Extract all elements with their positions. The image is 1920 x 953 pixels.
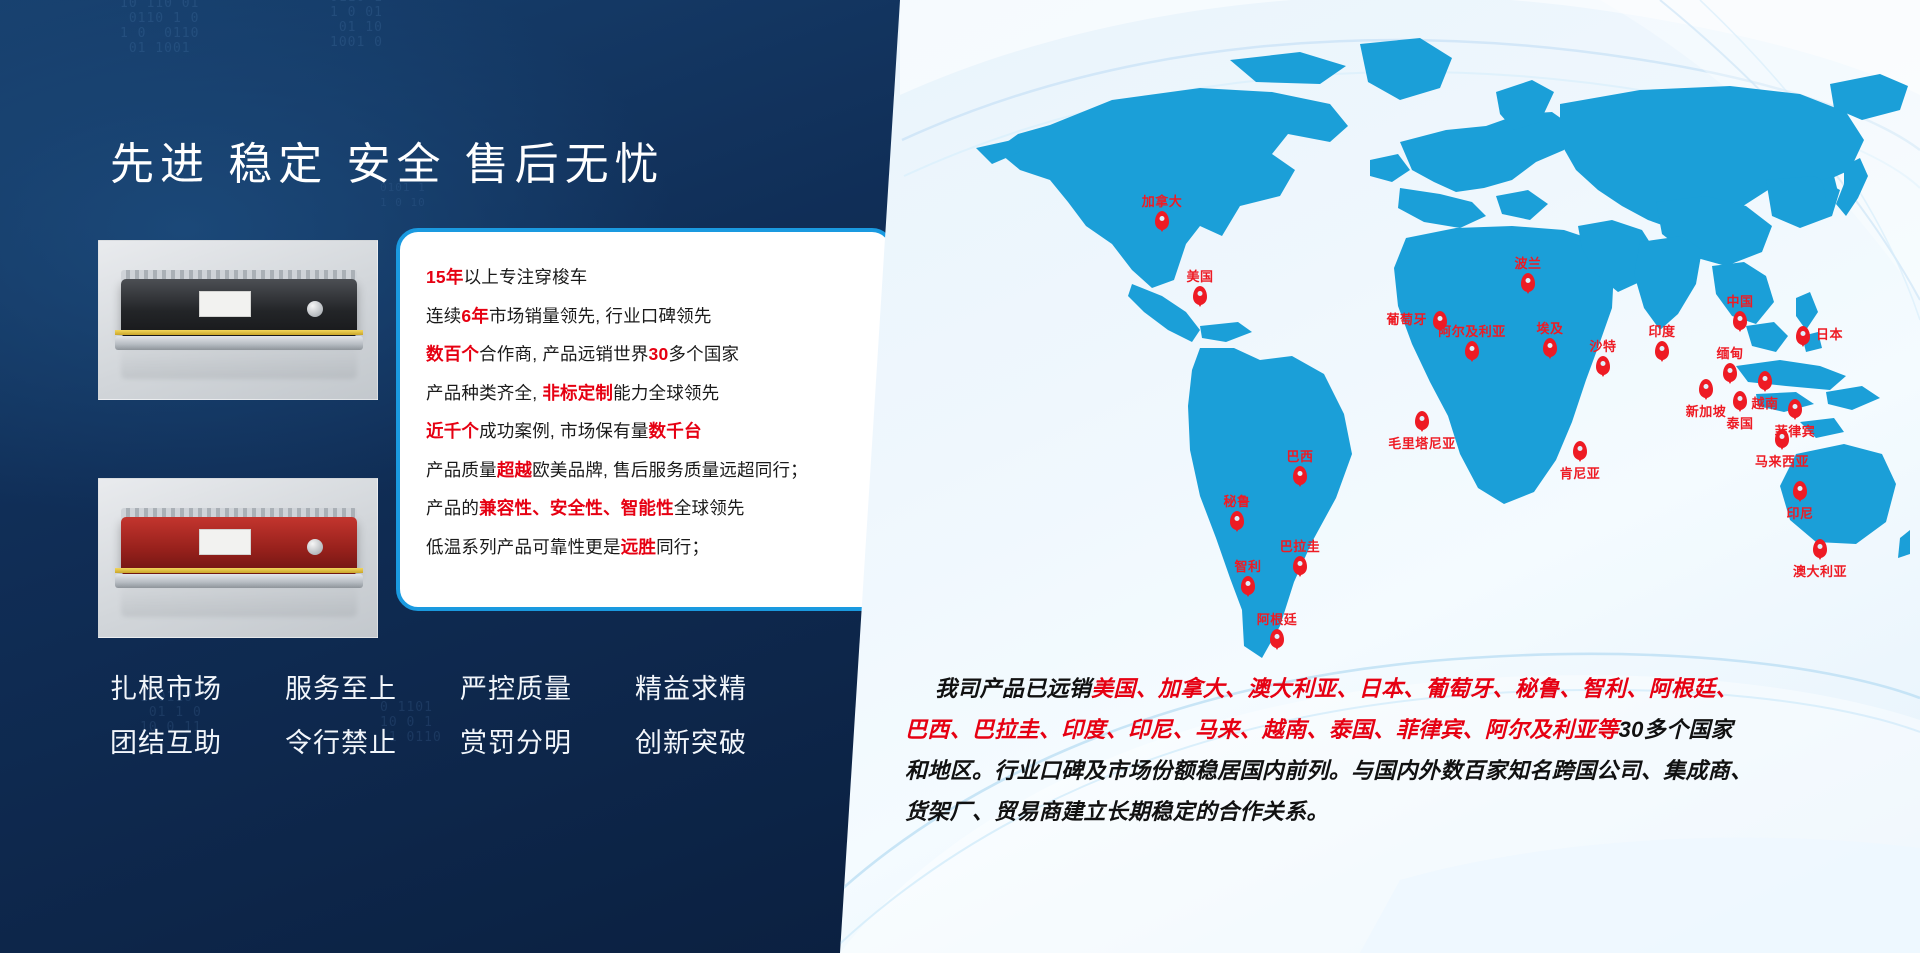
- value-item: 团结互助: [110, 716, 285, 770]
- body-text: 市场销量领先, 行业口碑领先: [489, 306, 712, 326]
- value-item: 扎根市场: [110, 662, 285, 716]
- location-pin-icon: [1521, 273, 1535, 292]
- values-row: 扎根市场服务至上严控质量精益求精: [110, 662, 810, 716]
- highlight-text: 6年: [461, 306, 489, 326]
- body-text: 以上专注穿梭车: [464, 267, 588, 287]
- location-pin-icon: [1655, 341, 1669, 360]
- map-pin[interactable]: 泰国: [1733, 391, 1747, 410]
- map-pin-label: 阿根廷: [1257, 609, 1298, 628]
- location-pin-icon: [1230, 511, 1244, 530]
- highlight-line: 连续6年市场销量领先, 行业口碑领先: [426, 297, 868, 336]
- description-text: 我司产品已远销: [935, 676, 1091, 701]
- highlight-text: 近千个: [426, 421, 479, 441]
- map-pin[interactable]: 印度: [1655, 341, 1669, 360]
- location-pin-icon: [1415, 411, 1429, 430]
- body-text: 连续: [426, 306, 461, 326]
- highlight-text: 数千台: [649, 421, 702, 441]
- highlight-text: 非标定制: [542, 383, 613, 403]
- map-pin-label: 阿尔及利亚: [1438, 321, 1506, 340]
- body-text: 合作商, 产品远销世界: [479, 344, 648, 364]
- map-pin[interactable]: 印尼: [1793, 481, 1807, 500]
- map-pin[interactable]: 越南: [1758, 371, 1772, 390]
- map-pin-label: 新加坡: [1686, 401, 1727, 420]
- description-line: 货架厂、贸易商建立长期稳定的合作关系。: [905, 791, 1865, 832]
- map-pin-label: 巴拉圭: [1280, 536, 1321, 555]
- company-highlights-card: 15年以上专注穿梭车连续6年市场销量领先, 行业口碑领先数百个合作商, 产品远销…: [396, 228, 894, 611]
- values-row: 团结互助令行禁止赏罚分明创新突破: [110, 716, 810, 770]
- map-pin[interactable]: 埃及: [1543, 338, 1557, 357]
- map-pin-label: 秘鲁: [1223, 491, 1250, 510]
- location-pin-icon: [1573, 441, 1587, 460]
- location-pin-icon: [1813, 539, 1827, 558]
- map-pin[interactable]: 沙特: [1596, 356, 1610, 375]
- map-pin[interactable]: 新加坡: [1699, 379, 1713, 398]
- body-text: 低温系列产品可靠性更是: [426, 537, 621, 557]
- market-description-paragraph: 我司产品已远销美国、加拿大、澳大利亚、日本、葡萄牙、秘鲁、智利、阿根廷、巴西、巴…: [905, 668, 1865, 832]
- map-pin[interactable]: 波兰: [1521, 273, 1535, 292]
- map-pin[interactable]: 加拿大: [1155, 211, 1169, 230]
- map-pin[interactable]: 日本: [1796, 326, 1810, 345]
- map-pin[interactable]: 巴拉圭: [1293, 556, 1307, 575]
- map-pin-label: 越南: [1751, 393, 1778, 412]
- value-item: 令行禁止: [285, 716, 460, 770]
- map-pin[interactable]: 肯尼亚: [1573, 441, 1587, 460]
- highlight-line: 产品种类齐全, 非标定制能力全球领先: [426, 374, 868, 413]
- map-pin-label: 肯尼亚: [1560, 463, 1601, 482]
- map-pin-label: 智利: [1234, 556, 1261, 575]
- left-dark-panel: 10 110 01 0110 1 0 1 0 0110 01 1001 0110…: [0, 0, 900, 953]
- location-pin-icon: [1465, 341, 1479, 360]
- description-text: 货架厂、贸易商建立长期稳定的合作关系。: [905, 799, 1329, 824]
- highlight-line: 产品质量超越欧美品牌, 售后服务质量远超同行；: [426, 451, 868, 490]
- map-pin-label: 沙特: [1589, 336, 1616, 355]
- highlight-text: 超越: [497, 460, 532, 480]
- map-pin-label: 马来西亚: [1755, 451, 1809, 470]
- map-pin[interactable]: 秘鲁: [1230, 511, 1244, 530]
- body-text: 产品质量: [426, 460, 497, 480]
- map-pin-label: 中国: [1726, 291, 1753, 310]
- highlight-line: 产品的兼容性、安全性、智能性全球领先: [426, 489, 868, 528]
- location-pin-icon: [1775, 429, 1789, 448]
- product-photo-black-shuttle: [98, 240, 378, 400]
- country-list-text: 美国、加拿大、澳大利亚、日本、葡萄牙、秘鲁、智利、阿根廷、: [1091, 676, 1738, 701]
- promo-banner: 10 110 01 0110 1 0 1 0 0110 01 1001 0110…: [0, 0, 1920, 953]
- description-line: 我司产品已远销美国、加拿大、澳大利亚、日本、葡萄牙、秘鲁、智利、阿根廷、: [905, 668, 1865, 709]
- location-pin-icon: [1733, 391, 1747, 410]
- location-pin-icon: [1543, 338, 1557, 357]
- highlight-line: 近千个成功案例, 市场保有量数千台: [426, 412, 868, 451]
- body-text: 产品的: [426, 498, 479, 518]
- body-text: 全球领先: [674, 498, 745, 518]
- map-pin-label: 印度: [1648, 321, 1675, 340]
- location-pin-icon: [1758, 371, 1772, 390]
- body-text: 产品种类齐全,: [426, 383, 542, 403]
- highlight-text: 远胜: [621, 537, 656, 557]
- location-pin-icon: [1270, 629, 1284, 648]
- value-item: 赏罚分明: [460, 716, 635, 770]
- map-pin-label: 波兰: [1514, 253, 1541, 272]
- map-pin-label: 缅甸: [1716, 343, 1743, 362]
- location-pin-icon: [1241, 576, 1255, 595]
- map-pin[interactable]: 美国: [1193, 286, 1207, 305]
- highlight-line: 数百个合作商, 产品远销世界30多个国家: [426, 335, 868, 374]
- map-pin-label: 巴西: [1286, 446, 1313, 465]
- description-text: 30多个国家: [1619, 717, 1733, 742]
- location-pin-icon: [1293, 556, 1307, 575]
- body-text: 欧美品牌, 售后服务质量远超同行；: [532, 460, 808, 480]
- value-item: 创新突破: [635, 716, 810, 770]
- location-pin-icon: [1596, 356, 1610, 375]
- shuttle-illustration-black: [121, 279, 357, 337]
- map-pin-label: 泰国: [1726, 413, 1753, 432]
- body-text: 成功案例, 市场保有量: [479, 421, 648, 441]
- description-line: 和地区。行业口碑及市场份额稳居国内前列。与国内外数百家知名跨国公司、集成商、: [905, 750, 1865, 791]
- map-pin[interactable]: 阿尔及利亚: [1465, 341, 1479, 360]
- shuttle-illustration-red: [121, 517, 357, 575]
- map-pin[interactable]: 菲律宾: [1788, 399, 1802, 418]
- page-title: 先进 稳定 安全 售后无忧: [110, 128, 665, 192]
- map-pin-label: 毛里塔尼亚: [1388, 433, 1456, 452]
- map-pin[interactable]: 澳大利亚: [1813, 539, 1827, 558]
- map-pin-label: 葡萄牙: [1386, 309, 1427, 328]
- body-text: 同行；: [656, 537, 709, 557]
- body-text: 多个国家: [668, 344, 739, 364]
- map-pin-label: 加拿大: [1142, 191, 1183, 210]
- location-pin-icon: [1723, 363, 1737, 382]
- map-pin[interactable]: 阿根廷: [1270, 629, 1284, 648]
- world-map-landmass: [900, 30, 1910, 670]
- map-pin[interactable]: 中国: [1733, 311, 1747, 330]
- location-pin-icon: [1155, 211, 1169, 230]
- location-pin-icon: [1788, 399, 1802, 418]
- highlight-text: 数百个: [426, 344, 479, 364]
- location-pin-icon: [1796, 326, 1810, 345]
- highlight-text: 30: [649, 344, 669, 364]
- map-pin[interactable]: 缅甸: [1723, 363, 1737, 382]
- highlight-line: 15年以上专注穿梭车: [426, 258, 868, 297]
- location-pin-icon: [1733, 311, 1747, 330]
- map-pin[interactable]: 马来西亚: [1775, 429, 1789, 448]
- highlight-text: 兼容性、安全性、智能性: [479, 498, 674, 518]
- highlight-line: 低温系列产品可靠性更是远胜同行；: [426, 528, 868, 567]
- map-pin-label: 美国: [1186, 266, 1213, 285]
- map-pin-label: 埃及: [1536, 318, 1563, 337]
- body-text: 能力全球领先: [613, 383, 719, 403]
- value-item: 精益求精: [635, 662, 810, 716]
- location-pin-icon: [1793, 481, 1807, 500]
- map-pin[interactable]: 毛里塔尼亚: [1415, 411, 1429, 430]
- map-pin-label: 日本: [1816, 324, 1843, 343]
- location-pin-icon: [1293, 466, 1307, 485]
- description-line: 巴西、巴拉圭、印度、印尼、马来、越南、泰国、菲律宾、阿尔及利亚等30多个国家: [905, 709, 1865, 750]
- country-list-text: 巴西、巴拉圭、印度、印尼、马来、越南、泰国、菲律宾、阿尔及利亚等: [905, 717, 1619, 742]
- product-photo-red-shuttle: [98, 478, 378, 638]
- description-text: 和地区。行业口碑及市场份额稳居国内前列。与国内外数百家知名跨国公司、集成商、: [905, 758, 1752, 783]
- map-pin[interactable]: 智利: [1241, 576, 1255, 595]
- location-pin-icon: [1699, 379, 1713, 398]
- value-item: 服务至上: [285, 662, 460, 716]
- location-pin-icon: [1193, 286, 1207, 305]
- map-pin[interactable]: 巴西: [1293, 466, 1307, 485]
- map-pin-label: 印尼: [1786, 503, 1813, 522]
- map-pin-label: 澳大利亚: [1793, 561, 1847, 580]
- corporate-values-list: 扎根市场服务至上严控质量精益求精团结互助令行禁止赏罚分明创新突破: [110, 662, 810, 770]
- highlight-text: 15年: [426, 267, 464, 287]
- value-item: 严控质量: [460, 662, 635, 716]
